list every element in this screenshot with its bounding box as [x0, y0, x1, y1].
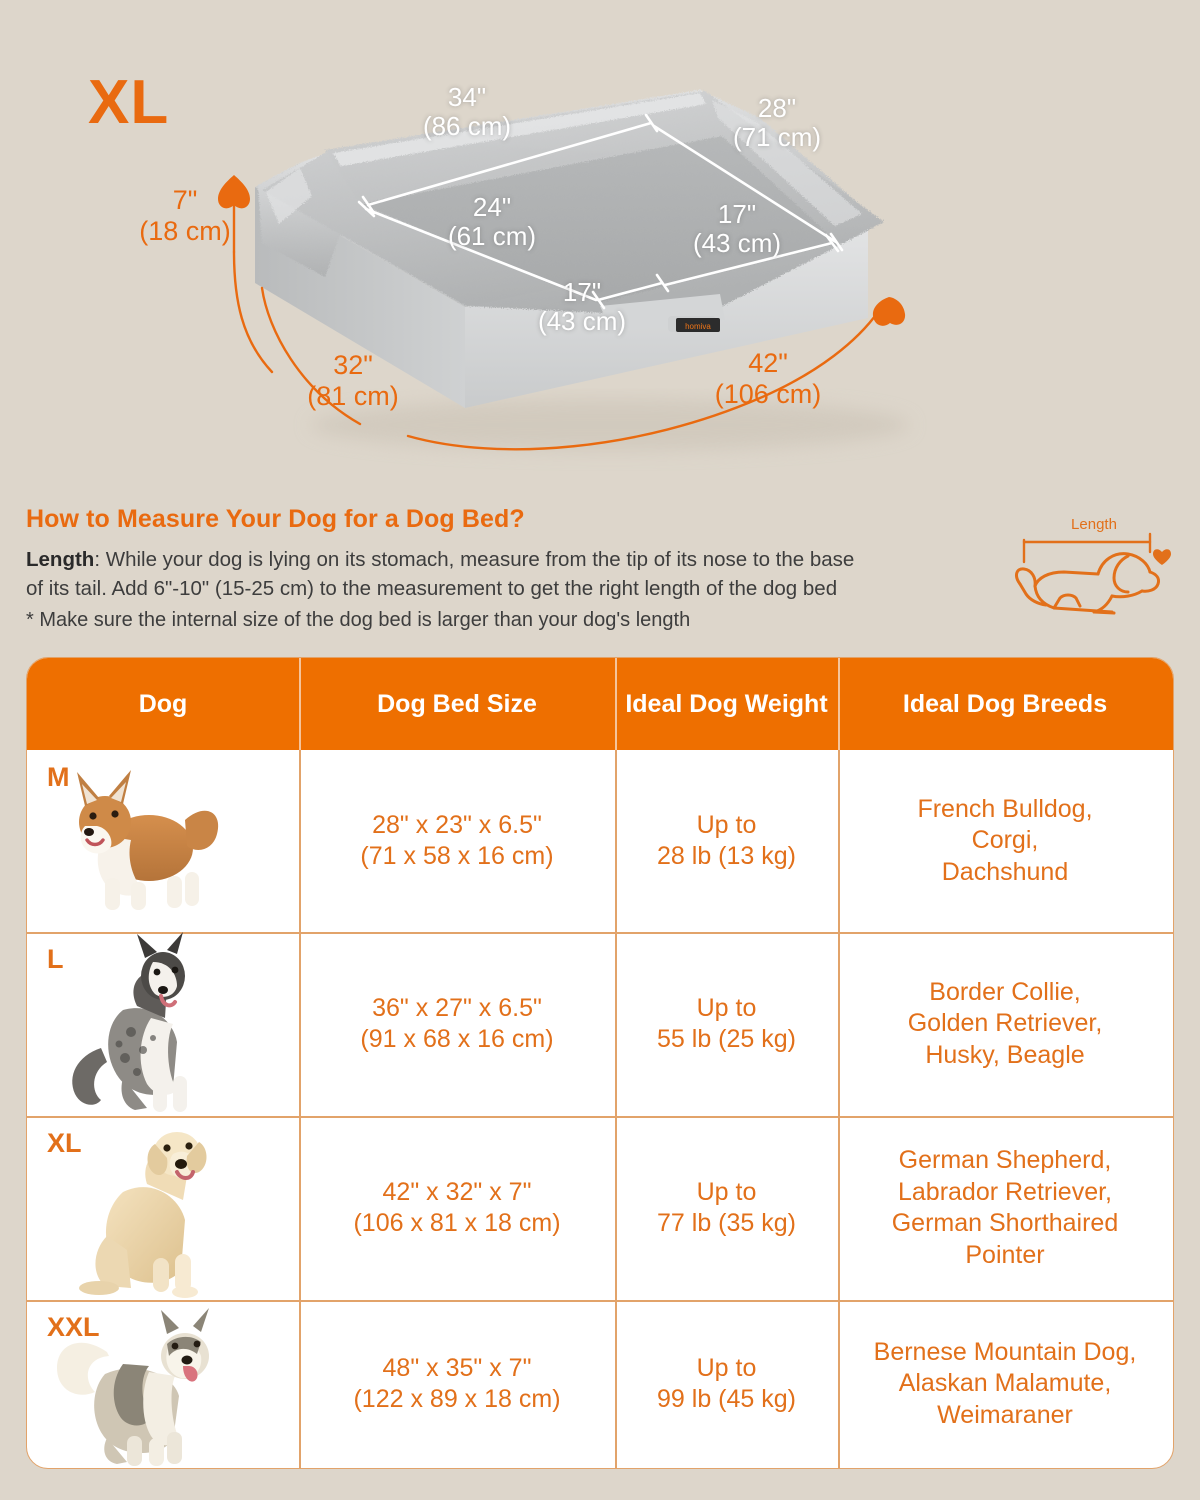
dim-inner-right: 17" (43 cm): [667, 200, 807, 258]
dim-height: 7" (18 cm): [110, 185, 260, 247]
dim-inner-left: 24" (61 cm): [422, 193, 562, 251]
infographic-page: XL: [0, 0, 1200, 1500]
dim-inner-bottom: 17" (43 cm): [512, 278, 652, 336]
dim-inner-right-in: 17": [667, 200, 807, 229]
bed-size-cm-l: (91 x 68 x 16 cm): [360, 1025, 553, 1053]
dim-overall-depth: 32" (81 cm): [278, 350, 428, 412]
dim-inner-left-cm: (61 cm): [422, 222, 562, 251]
cell-weight-xl: Up to 77 lb (35 kg): [615, 1116, 838, 1300]
bed-size-cm-xxl: (122 x 89 x 18 cm): [353, 1385, 560, 1413]
dim-overall-width-in: 42": [673, 348, 863, 379]
weight-line1-xxl: Up to: [697, 1354, 757, 1382]
measure-section: How to Measure Your Dog for a Dog Bed? L…: [26, 505, 1001, 635]
brand-tag-text: homiva: [685, 322, 711, 331]
size-chart-table: Dog Dog Bed Size Ideal Dog Weight Ideal …: [26, 657, 1174, 1469]
measure-label: Length: [26, 548, 94, 571]
dim-outer-top-in: 34": [402, 83, 532, 112]
cell-breeds-xxl: Bernese Mountain Dog, Alaskan Malamute, …: [838, 1300, 1172, 1468]
measure-body-line1: : While your dog is lying on its stomach…: [94, 548, 854, 571]
cell-weight-m: Up to 28 lb (13 kg): [615, 750, 838, 932]
table-row: XXL: [27, 1300, 1173, 1468]
cell-dog-xl: XL: [27, 1116, 299, 1300]
measure-note: * Make sure the internal size of the dog…: [26, 606, 1001, 634]
dim-outer-right-in: 28": [707, 94, 847, 123]
dim-outer-right-cm: (71 cm): [707, 123, 847, 152]
dim-overall-width: 42" (106 cm): [673, 348, 863, 410]
size-label-xxl: XXL: [47, 1310, 100, 1344]
dim-overall-depth-cm: (81 cm): [278, 381, 428, 412]
weight-line1-m: Up to: [697, 811, 757, 839]
cell-bed-size-m: 28" x 23" x 6.5" (71 x 58 x 16 cm): [299, 750, 615, 932]
measure-body: Length: While your dog is lying on its s…: [26, 545, 1001, 574]
dim-inner-left-in: 24": [422, 193, 562, 222]
weight-line2-xl: 77 lb (35 kg): [657, 1209, 796, 1237]
table-row: XL: [27, 1116, 1173, 1300]
dim-height-cm: (18 cm): [110, 216, 260, 247]
cell-weight-xxl: Up to 99 lb (45 kg): [615, 1300, 838, 1468]
table-header-breeds: Ideal Dog Breeds: [838, 658, 1172, 750]
cell-bed-size-xl: 42" x 32" x 7" (106 x 81 x 18 cm): [299, 1116, 615, 1300]
width-arrow-icon: [873, 297, 905, 326]
hero-section: XL: [0, 0, 1200, 480]
weight-line1-xl: Up to: [697, 1178, 757, 1206]
cell-breeds-l: Border Collie, Golden Retriever, Husky, …: [838, 932, 1172, 1116]
dim-outer-top: 34" (86 cm): [402, 83, 532, 141]
table-row: L: [27, 932, 1173, 1116]
table-row: M: [27, 750, 1173, 932]
dog-length-icon: Length: [1002, 512, 1180, 632]
measure-heading: How to Measure Your Dog for a Dog Bed?: [26, 505, 1001, 534]
dim-overall-depth-in: 32": [278, 350, 428, 381]
table-header-row: Dog Dog Bed Size Ideal Dog Weight Ideal …: [27, 658, 1173, 750]
cell-weight-l: Up to 55 lb (25 kg): [615, 932, 838, 1116]
cell-bed-size-xxl: 48" x 35" x 7" (122 x 89 x 18 cm): [299, 1300, 615, 1468]
dim-inner-bottom-cm: (43 cm): [512, 307, 652, 336]
cell-dog-l: L: [27, 932, 299, 1116]
bed-size-cm-xl: (106 x 81 x 18 cm): [353, 1209, 560, 1237]
bed-size-in-xl: 42" x 32" x 7": [383, 1178, 532, 1206]
weight-line2-m: 28 lb (13 kg): [657, 842, 796, 870]
table-header-bed-size: Dog Bed Size: [299, 658, 615, 750]
bed-size-in-l: 36" x 27" x 6.5": [372, 994, 542, 1022]
cell-bed-size-l: 36" x 27" x 6.5" (91 x 68 x 16 cm): [299, 932, 615, 1116]
border-collie-photo: [27, 932, 299, 1116]
cell-dog-xxl: XXL: [27, 1300, 299, 1468]
weight-line1-l: Up to: [697, 994, 757, 1022]
measure-body-line2: of its tail. Add 6"-10" (15-25 cm) to th…: [26, 574, 1001, 603]
cell-breeds-m: French Bulldog, Corgi, Dachshund: [838, 750, 1172, 932]
size-label-xl: XL: [47, 1126, 82, 1160]
table-header-weight: Ideal Dog Weight: [615, 658, 838, 750]
table-header-dog: Dog: [27, 658, 299, 750]
cell-dog-m: M: [27, 750, 299, 932]
cell-breeds-xl: German Shepherd, Labrador Retriever, Ger…: [838, 1116, 1172, 1300]
dim-outer-top-cm: (86 cm): [402, 112, 532, 141]
dog-length-icon-label: Length: [1071, 516, 1117, 533]
size-label-m: M: [47, 760, 70, 794]
bed-size-in-m: 28" x 23" x 6.5": [372, 811, 542, 839]
bed-size-in-xxl: 48" x 35" x 7": [383, 1354, 532, 1382]
dim-inner-right-cm: (43 cm): [667, 229, 807, 258]
heart-icon: [1153, 549, 1171, 565]
weight-line2-xxl: 99 lb (45 kg): [657, 1385, 796, 1413]
dim-height-in: 7": [110, 185, 260, 216]
size-label-l: L: [47, 942, 64, 976]
bed-size-cm-m: (71 x 58 x 16 cm): [360, 842, 553, 870]
dim-inner-bottom-in: 17": [512, 278, 652, 307]
weight-line2-l: 55 lb (25 kg): [657, 1025, 796, 1053]
dim-overall-width-cm: (106 cm): [673, 379, 863, 410]
dim-outer-right: 28" (71 cm): [707, 94, 847, 152]
